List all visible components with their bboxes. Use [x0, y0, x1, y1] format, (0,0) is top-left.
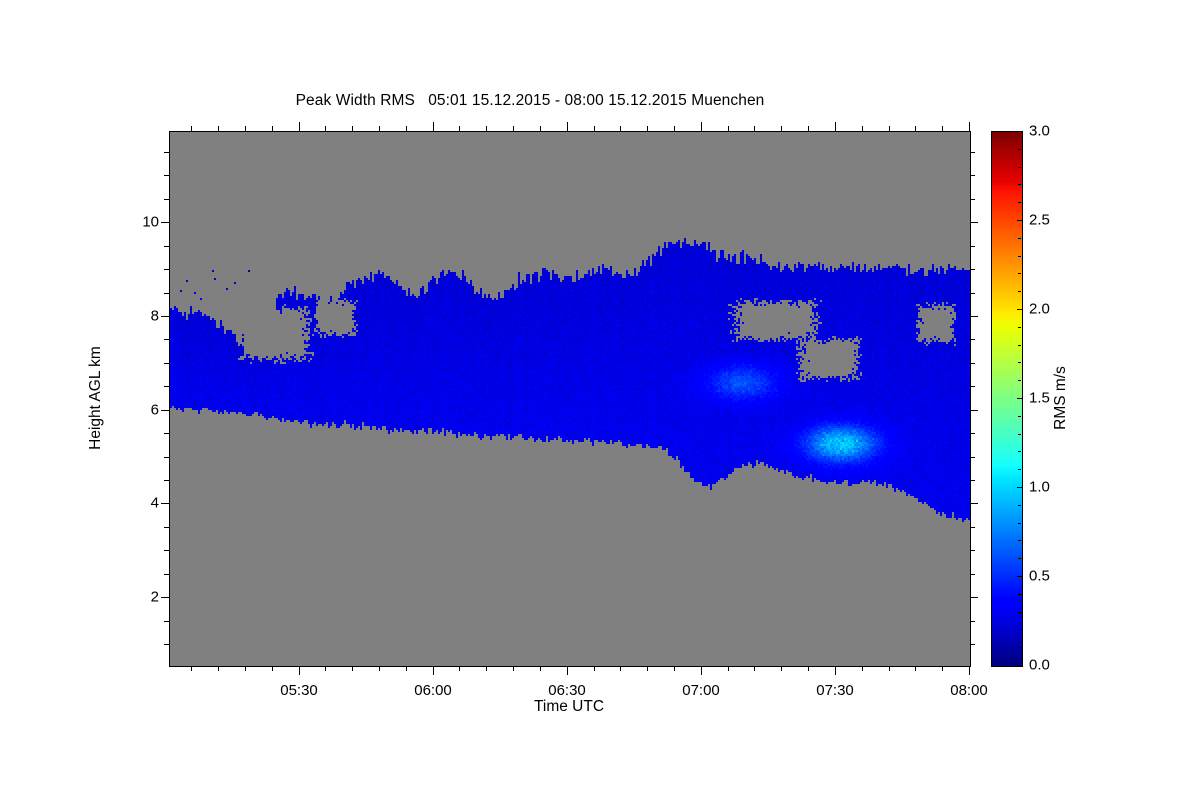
- x-tick-minor-top: [513, 126, 514, 131]
- colorbar-tick-minor: [1018, 273, 1021, 274]
- y-tick-minor: [164, 386, 169, 387]
- colorbar-tick-minor: [1018, 362, 1021, 363]
- x-tick-minor-top: [728, 126, 729, 131]
- y-tick-minor: [164, 152, 169, 153]
- y-axis-title: Height AGL km: [87, 346, 105, 450]
- x-tick-major: [969, 666, 970, 675]
- y-tick-minor: [164, 621, 169, 622]
- y-tick-major: [161, 503, 169, 504]
- x-tick-major-top: [299, 122, 300, 131]
- y-tick-minor-right: [970, 246, 975, 247]
- x-tick-minor-top: [540, 126, 541, 131]
- y-tick-minor-right: [970, 550, 975, 551]
- colorbar-tick: [1017, 309, 1022, 310]
- x-tick-minor-top: [379, 126, 380, 131]
- x-tick-major: [835, 666, 836, 675]
- y-tick-minor: [164, 199, 169, 200]
- y-tick-minor: [164, 269, 169, 270]
- y-tick-minor: [164, 480, 169, 481]
- x-tick-minor-top: [808, 126, 809, 131]
- x-tick-minor-top: [647, 126, 648, 131]
- chart-title: Peak Width RMS 05:01 15.12.2015 - 08:00 …: [0, 92, 1060, 110]
- x-tick-label: 07:30: [816, 683, 854, 698]
- x-tick-major: [701, 666, 702, 675]
- y-tick-minor: [164, 339, 169, 340]
- x-tick-minor: [728, 666, 729, 671]
- x-tick-minor-top: [245, 126, 246, 131]
- x-tick-minor-top: [218, 126, 219, 131]
- x-tick-minor-top: [754, 126, 755, 131]
- x-tick-minor: [486, 666, 487, 671]
- x-tick-major: [567, 666, 568, 675]
- x-tick-label: 07:00: [682, 683, 720, 698]
- colorbar-tick: [1017, 576, 1022, 577]
- y-tick-minor-right: [970, 457, 975, 458]
- colorbar-tick-minor: [1018, 629, 1021, 630]
- colorbar-canvas: [992, 132, 1022, 666]
- colorbar-tick: [1017, 131, 1022, 132]
- y-tick-minor: [164, 527, 169, 528]
- figure-root: Peak Width RMS 05:01 15.12.2015 - 08:00 …: [0, 0, 1200, 800]
- x-tick-minor: [272, 666, 273, 671]
- x-tick-minor: [325, 666, 326, 671]
- colorbar-tick-minor: [1018, 416, 1021, 417]
- colorbar-title: RMS m/s: [1052, 366, 1070, 430]
- x-tick-label: 06:00: [414, 683, 452, 698]
- y-tick-minor-right: [970, 152, 975, 153]
- colorbar-tick-label: 2.0: [1029, 302, 1050, 317]
- colorbar-tick: [1017, 665, 1022, 666]
- x-tick-minor-top: [191, 126, 192, 131]
- y-tick-major: [161, 222, 169, 223]
- y-tick-minor-right: [970, 480, 975, 481]
- y-tick-minor: [164, 457, 169, 458]
- y-tick-minor-right: [970, 363, 975, 364]
- x-tick-major-top: [567, 122, 568, 131]
- y-tick-major-right: [970, 316, 978, 317]
- x-tick-minor-top: [942, 126, 943, 131]
- y-tick-major: [161, 410, 169, 411]
- y-tick-minor: [164, 246, 169, 247]
- colorbar-tick-minor: [1018, 256, 1021, 257]
- x-tick-minor: [781, 666, 782, 671]
- y-tick-minor-right: [970, 269, 975, 270]
- colorbar-tick-label: 1.5: [1029, 391, 1050, 406]
- y-tick-label: 6: [123, 403, 159, 418]
- y-tick-minor-right: [970, 574, 975, 575]
- y-tick-major-right: [970, 410, 978, 411]
- y-tick-minor-right: [970, 175, 975, 176]
- x-tick-minor: [459, 666, 460, 671]
- colorbar-tick-minor: [1018, 238, 1021, 239]
- y-tick-major-right: [970, 222, 978, 223]
- y-tick-minor-right: [970, 386, 975, 387]
- colorbar-tick-minor: [1018, 202, 1021, 203]
- y-tick-minor: [164, 363, 169, 364]
- y-tick-minor: [164, 175, 169, 176]
- plot-area: [169, 131, 971, 667]
- x-tick-minor-top: [352, 126, 353, 131]
- x-tick-minor: [379, 666, 380, 671]
- y-tick-minor-right: [970, 527, 975, 528]
- x-tick-minor-top: [889, 126, 890, 131]
- colorbar-tick-minor: [1018, 505, 1021, 506]
- x-tick-minor-top: [406, 126, 407, 131]
- x-tick-major-top: [835, 122, 836, 131]
- x-axis-title: Time UTC: [169, 698, 969, 716]
- x-tick-minor: [218, 666, 219, 671]
- colorbar-tick: [1017, 487, 1022, 488]
- x-tick-minor: [191, 666, 192, 671]
- colorbar-tick-minor: [1018, 594, 1021, 595]
- colorbar-tick-minor: [1018, 540, 1021, 541]
- y-tick-minor: [164, 574, 169, 575]
- x-tick-minor-top: [620, 126, 621, 131]
- y-tick-minor-right: [970, 621, 975, 622]
- y-tick-label: 2: [123, 590, 159, 605]
- x-tick-major-top: [433, 122, 434, 131]
- x-tick-minor: [647, 666, 648, 671]
- x-tick-minor: [245, 666, 246, 671]
- colorbar-tick-minor: [1018, 523, 1021, 524]
- x-tick-minor: [594, 666, 595, 671]
- colorbar-tick-minor: [1018, 451, 1021, 452]
- colorbar-tick-minor: [1018, 291, 1021, 292]
- y-tick-major: [161, 597, 169, 598]
- x-tick-minor-top: [594, 126, 595, 131]
- x-tick-label: 08:00: [950, 683, 988, 698]
- colorbar-tick: [1017, 220, 1022, 221]
- x-tick-minor-top: [674, 126, 675, 131]
- x-tick-minor: [406, 666, 407, 671]
- x-tick-minor: [620, 666, 621, 671]
- x-tick-major-top: [701, 122, 702, 131]
- x-tick-label: 05:30: [280, 683, 318, 698]
- colorbar-tick-minor: [1018, 345, 1021, 346]
- y-tick-minor-right: [970, 644, 975, 645]
- x-tick-minor: [862, 666, 863, 671]
- heatmap-canvas: [170, 132, 970, 666]
- x-tick-minor-top: [781, 126, 782, 131]
- colorbar-tick-minor: [1018, 469, 1021, 470]
- x-tick-minor-top: [325, 126, 326, 131]
- x-tick-minor: [754, 666, 755, 671]
- x-tick-minor: [889, 666, 890, 671]
- y-tick-major-right: [970, 597, 978, 598]
- x-tick-minor-top: [459, 126, 460, 131]
- y-tick-label: 8: [123, 309, 159, 324]
- colorbar-tick-minor: [1018, 327, 1021, 328]
- x-tick-minor-top: [272, 126, 273, 131]
- colorbar-tick-minor: [1018, 167, 1021, 168]
- colorbar-tick-minor: [1018, 558, 1021, 559]
- colorbar-tick-minor: [1018, 647, 1021, 648]
- colorbar-tick-minor: [1018, 380, 1021, 381]
- y-tick-minor-right: [970, 433, 975, 434]
- colorbar-tick-label: 0.5: [1029, 569, 1050, 584]
- colorbar-tick-minor: [1018, 149, 1021, 150]
- x-tick-minor-top: [862, 126, 863, 131]
- x-tick-major: [433, 666, 434, 675]
- y-tick-minor: [164, 644, 169, 645]
- colorbar: [991, 131, 1023, 667]
- x-tick-minor: [674, 666, 675, 671]
- y-tick-minor: [164, 433, 169, 434]
- colorbar-tick-minor: [1018, 612, 1021, 613]
- y-tick-minor-right: [970, 293, 975, 294]
- x-tick-minor-top: [915, 126, 916, 131]
- y-tick-label: 4: [123, 496, 159, 511]
- y-tick-minor-right: [970, 199, 975, 200]
- colorbar-tick-label: 2.5: [1029, 213, 1050, 228]
- y-tick-minor: [164, 293, 169, 294]
- y-tick-major: [161, 316, 169, 317]
- colorbar-tick: [1017, 398, 1022, 399]
- y-tick-label: 10: [123, 215, 159, 230]
- x-tick-minor: [352, 666, 353, 671]
- x-tick-minor: [915, 666, 916, 671]
- x-tick-minor: [540, 666, 541, 671]
- y-tick-major-right: [970, 503, 978, 504]
- x-tick-minor: [942, 666, 943, 671]
- colorbar-tick-label: 1.0: [1029, 480, 1050, 495]
- colorbar-tick-minor: [1018, 184, 1021, 185]
- x-tick-minor-top: [486, 126, 487, 131]
- x-tick-minor: [513, 666, 514, 671]
- y-tick-minor: [164, 550, 169, 551]
- colorbar-tick-label: 3.0: [1029, 124, 1050, 139]
- colorbar-tick-minor: [1018, 434, 1021, 435]
- x-tick-minor: [808, 666, 809, 671]
- colorbar-tick-label: 0.0: [1029, 658, 1050, 673]
- y-tick-minor-right: [970, 339, 975, 340]
- x-tick-major-top: [969, 122, 970, 131]
- x-tick-major: [299, 666, 300, 675]
- x-tick-label: 06:30: [548, 683, 586, 698]
